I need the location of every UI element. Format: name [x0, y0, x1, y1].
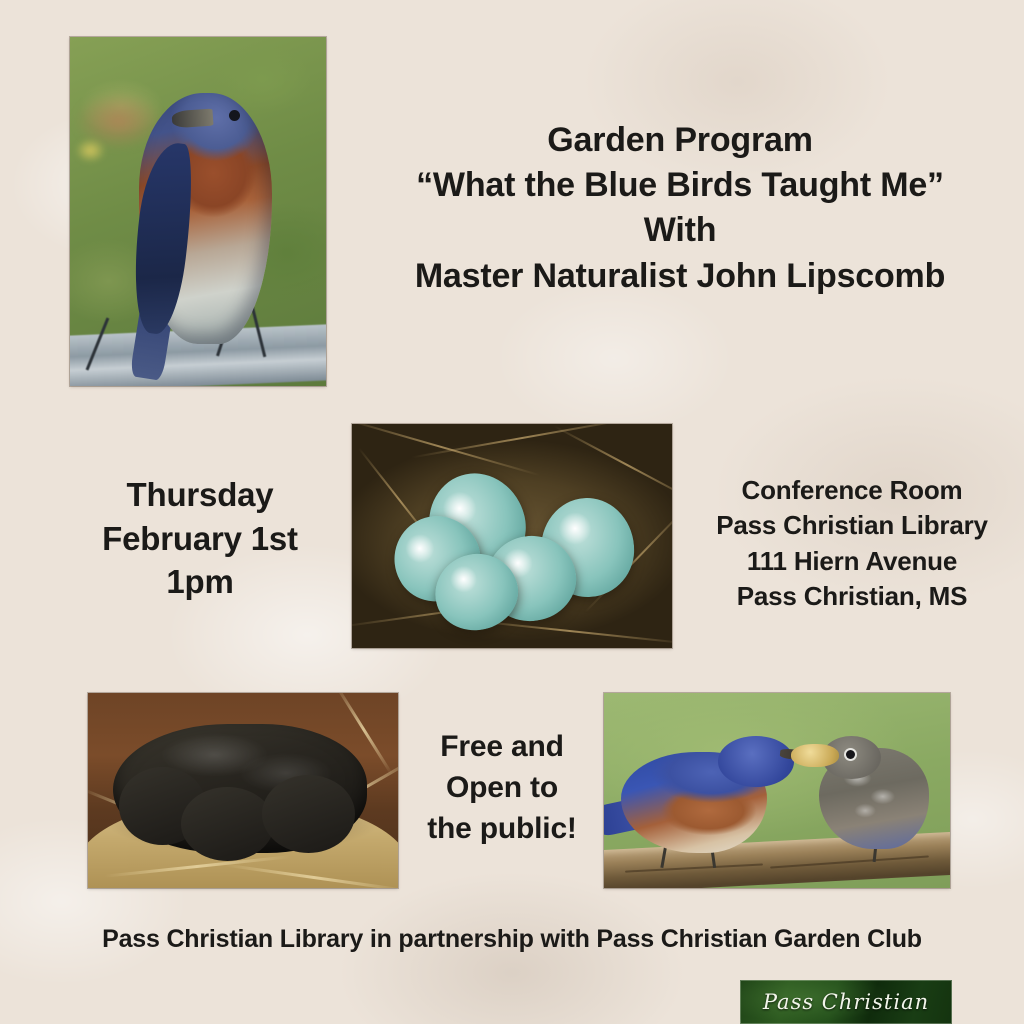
venue-room: Conference Room	[692, 473, 1012, 508]
admission-note: Free and Open to the public!	[404, 726, 600, 849]
headline-line: Master Naturalist John Lipscomb	[356, 254, 1004, 299]
event-day: Thursday	[54, 473, 346, 517]
venue-name: Pass Christian Library	[692, 508, 1012, 543]
event-date: February 1st	[54, 517, 346, 561]
adult-head	[718, 736, 794, 787]
headline-line: With	[356, 208, 1004, 253]
headline-line: Garden Program	[356, 118, 1004, 163]
venue-street: 111 Hiern Avenue	[692, 544, 1012, 579]
admission-line: Open to	[404, 767, 600, 808]
insect-food	[791, 744, 839, 767]
partnership-credit: Pass Christian Library in partnership wi…	[0, 925, 1024, 955]
event-flyer: Garden Program “What the Blue Birds Taug…	[0, 0, 1024, 1024]
photo-nestlings	[88, 693, 398, 888]
headline-line: “What the Blue Birds Taught Me”	[356, 163, 1004, 208]
pass-christian-logo: Pass Christian	[740, 980, 952, 1024]
bluebird-eye	[229, 110, 240, 121]
photo-feeding	[604, 693, 950, 888]
photo-eggs-in-nest	[352, 424, 672, 648]
event-location-block: Conference Room Pass Christian Library 1…	[692, 473, 1012, 614]
admission-line: the public!	[404, 808, 600, 849]
nestling	[181, 787, 274, 861]
admission-line: Free and	[404, 726, 600, 767]
background-blur-flower	[75, 138, 106, 162]
photo-bluebird-perched	[70, 37, 326, 386]
logo-wordmark: Pass Christian	[740, 990, 952, 1014]
nestling	[262, 775, 355, 853]
page-title: Garden Program “What the Blue Birds Taug…	[356, 118, 1004, 299]
event-time: 1pm	[54, 560, 346, 604]
fledgling-eye	[846, 750, 855, 759]
venue-city-state: Pass Christian, MS	[692, 579, 1012, 614]
event-date-block: Thursday February 1st 1pm	[54, 473, 346, 604]
